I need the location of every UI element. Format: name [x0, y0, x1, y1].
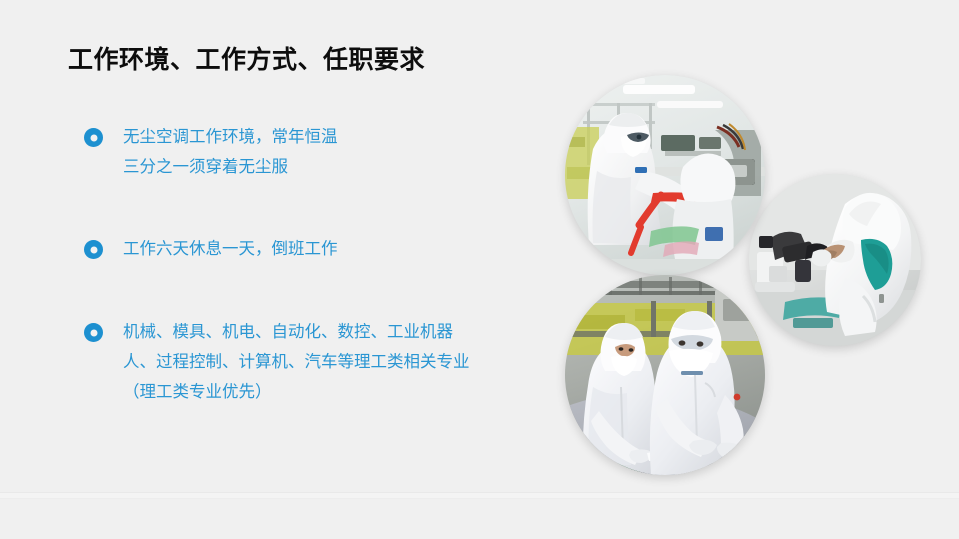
- microscope-inspection-art: [749, 174, 921, 346]
- photo-cluster: [540, 55, 959, 495]
- list-item-text: 无尘空调工作环境，常年恒温 三分之一须穿着无尘服: [123, 122, 338, 182]
- list-item: 无尘空调工作环境，常年恒温 三分之一须穿着无尘服: [84, 122, 338, 182]
- cleanroom-technicians-art: [565, 75, 765, 275]
- cleanroom-technicians-photo: [565, 75, 765, 275]
- page-title: 工作环境、工作方式、任职要求: [68, 40, 425, 76]
- list-item: 工作六天休息一天，倒班工作: [84, 234, 338, 264]
- list-item-line: 工作六天休息一天，倒班工作: [123, 234, 338, 264]
- slide-canvas: 工作环境、工作方式、任职要求 无尘空调工作环境，常年恒温 三分之一须穿着无尘服 …: [0, 0, 959, 539]
- pcb-inspection-art: [565, 275, 765, 475]
- list-item-line: 三分之一须穿着无尘服: [123, 152, 338, 182]
- list-item-line: 无尘空调工作环境，常年恒温: [123, 122, 338, 152]
- ring-bullet-icon: [84, 128, 103, 147]
- ring-bullet-icon: [84, 323, 103, 342]
- list-item-text: 工作六天休息一天，倒班工作: [123, 234, 338, 264]
- pcb-inspection-photo: [565, 275, 765, 475]
- slide-bottom-divider: [0, 492, 959, 499]
- ring-bullet-icon: [84, 240, 103, 259]
- list-item: 机械、模具、机电、自动化、数控、工业机器人、过程控制、计算机、汽车等理工类相关专…: [84, 317, 483, 407]
- list-item-text: 机械、模具、机电、自动化、数控、工业机器人、过程控制、计算机、汽车等理工类相关专…: [123, 317, 483, 407]
- list-item-line: 机械、模具、机电、自动化、数控、工业机器人、过程控制、计算机、汽车等理工类相关专…: [123, 317, 483, 407]
- microscope-inspection-photo: [749, 174, 921, 346]
